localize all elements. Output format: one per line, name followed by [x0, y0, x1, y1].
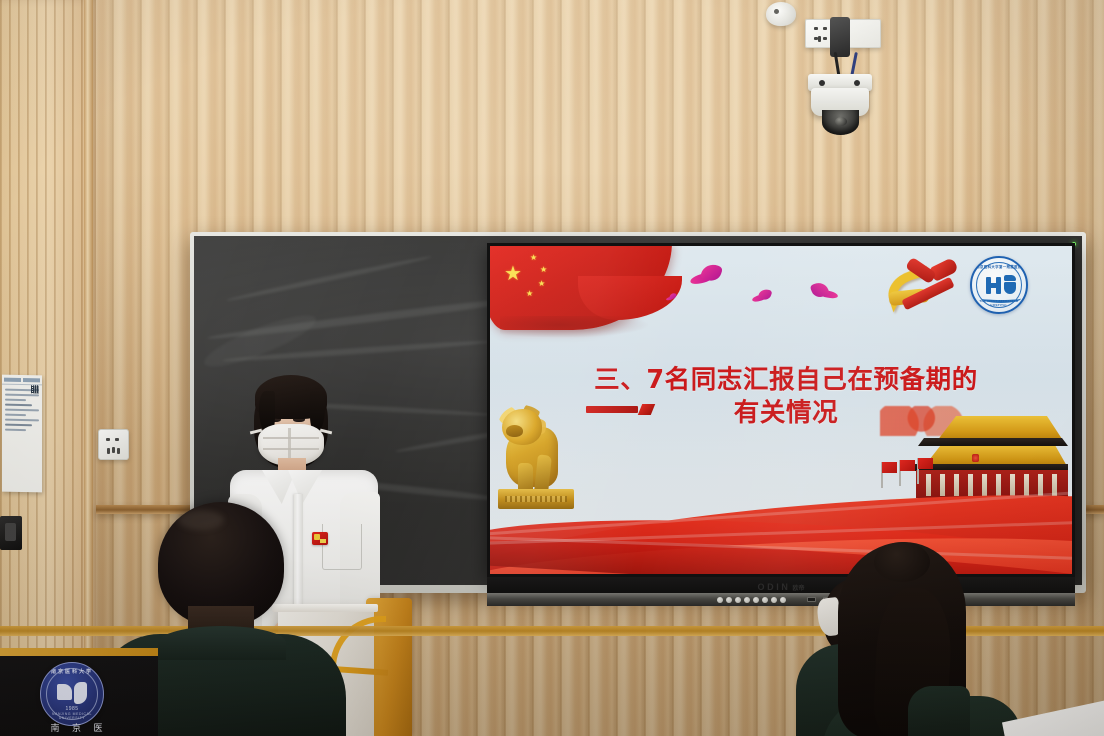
- interactive-flat-panel-display[interactable]: ★ ★ ★ ★ ★ 南京医科大学第一附属医院: [487, 243, 1075, 577]
- mask-fold-1: [263, 437, 319, 439]
- flag-shadow: [500, 316, 650, 338]
- dove-icon-1: [690, 266, 724, 292]
- smoke-detector-icon: [766, 2, 796, 26]
- camera-dome-lens-icon: [822, 110, 859, 135]
- gate-lantern-icon: [972, 454, 979, 462]
- slide-canvas: ★ ★ ★ ★ ★ 南京医科大学第一附属医院: [490, 246, 1072, 574]
- display-button-7[interactable]: [771, 597, 777, 603]
- flag-star-large: ★: [504, 264, 522, 284]
- audience-hair-bun: [874, 542, 930, 582]
- wall-mounted-device: [0, 516, 22, 550]
- hospital-logo-top-text: 南京医科大学第一附属医院: [972, 264, 1026, 269]
- flag-star-1: ★: [530, 254, 537, 262]
- display-brand-name-cn: 欧帝: [792, 586, 804, 592]
- university-logo-icon: 南京医科大学 1985 NANJING MEDICAL UNIVERSITY: [40, 662, 104, 726]
- audience-group-right: [804, 536, 1104, 736]
- dove-icon-4: [666, 294, 677, 303]
- dove-icon-2: [752, 290, 774, 307]
- banner-top-strip: [0, 648, 158, 656]
- wall-notice-poster: [2, 375, 42, 493]
- display-button-4[interactable]: [744, 597, 750, 603]
- mask-fold-2: [263, 448, 319, 450]
- flag-star-3: ★: [538, 280, 545, 288]
- wall-power-outlet[interactable]: [98, 429, 129, 460]
- university-banner: 南京医科大学 1985 NANJING MEDICAL UNIVERSITY 南…: [0, 648, 158, 736]
- display-brand-name: ODIN: [758, 582, 791, 592]
- paper-sheet: [1002, 696, 1104, 736]
- display-button-3[interactable]: [735, 597, 741, 603]
- display-button-2[interactable]: [726, 597, 732, 603]
- audience-arm: [908, 686, 970, 736]
- dove-icon-3: [810, 284, 838, 306]
- university-logo-mark: [57, 682, 89, 708]
- flag-star-2: ★: [540, 266, 547, 274]
- presenter-hair-front: [255, 375, 327, 419]
- red-ribbon-accent: [586, 406, 638, 413]
- hospital-logo-icon: 南京医科大学第一附属医院 THE FIRST AFFILIATED HOSPIT…: [970, 256, 1028, 314]
- cpc-party-emblem-icon: [885, 256, 961, 314]
- flag-star-4: ★: [526, 290, 533, 298]
- university-banner-name: 南 京 医: [0, 721, 158, 734]
- display-button-6[interactable]: [762, 597, 768, 603]
- display-button-row[interactable]: [717, 597, 786, 603]
- university-logo-top-text: 南京医科大学: [41, 668, 103, 675]
- qr-code-icon: [31, 385, 39, 393]
- display-button-1[interactable]: [717, 597, 723, 603]
- university-logo-bottom-text: NANJING MEDICAL UNIVERSITY: [41, 712, 103, 720]
- display-button-8[interactable]: [780, 597, 786, 603]
- camera-power-adapter: [830, 17, 850, 57]
- lion-muzzle: [506, 425, 523, 437]
- display-button-5[interactable]: [753, 597, 759, 603]
- gate-upper-eave: [918, 438, 1068, 446]
- photo-scene: ★ ★ ★ ★ ★ 南京医科大学第一附属医院: [0, 0, 1104, 736]
- hospital-logo-bottom-text: THE FIRST AFFILIATED HOSPITAL: [972, 299, 1026, 307]
